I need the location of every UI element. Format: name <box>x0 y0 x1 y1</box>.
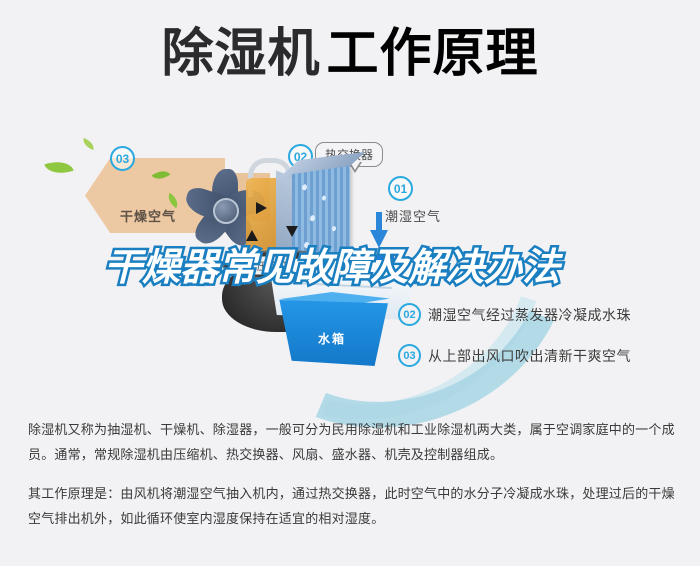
water-droplet-icon <box>310 215 315 222</box>
infographic-page: 除湿机工作原理 干燥空气 03 02 01 热交换器 潮湿空气 <box>0 0 700 566</box>
humid-air-label: 潮湿空气 <box>385 206 441 225</box>
legend-badge: 02 <box>398 303 421 326</box>
water-droplet-icon <box>322 195 326 201</box>
paragraph-1: 除湿机又称为抽湿机、干燥机、除湿器，一般可分为民用除湿机和工业除湿机两大类，属于… <box>28 417 676 467</box>
leaf-icon <box>44 156 73 178</box>
dry-air-label: 干燥空气 <box>120 206 176 225</box>
page-title-part-2: 工作原理 <box>327 25 539 83</box>
legend-badge: 03 <box>398 344 421 367</box>
legend-text: 从上部出风口吹出清新干爽空气 <box>428 346 631 366</box>
fan-hub <box>213 198 239 224</box>
flow-arrow-right-icon <box>256 202 267 214</box>
flow-arrow-up-icon <box>246 230 258 241</box>
page-title-part-1: 除湿机 <box>161 25 320 83</box>
paragraph-2: 其工作原理是：由风机将潮湿空气抽入机内，通过热交换器，此时空气中的水分子冷凝成水… <box>28 481 676 531</box>
water-droplet-icon <box>332 226 336 232</box>
flow-arrow-down-icon <box>286 226 298 237</box>
water-tank-label: 水箱 <box>318 330 346 347</box>
legend-list: 02 潮湿空气经过蒸发器冷凝成水珠 03 从上部出风口吹出清新干爽空气 <box>398 303 631 385</box>
diagram-badge-03: 03 <box>110 146 135 171</box>
legend-item: 02 潮湿空气经过蒸发器冷凝成水珠 <box>398 303 631 326</box>
body-copy: 除湿机又称为抽湿机、干燥机、除湿器，一般可分为民用除湿机和工业除湿机两大类，属于… <box>28 417 676 531</box>
diagram-badge-01: 01 <box>388 176 413 201</box>
air-down-arrow-icon <box>370 230 388 248</box>
leaf-icon <box>81 138 96 150</box>
page-title: 除湿机工作原理 <box>0 28 700 80</box>
air-down-arrow-tail <box>376 212 382 232</box>
overlay-headline: 干燥器常见故障及解决办法 <box>104 248 624 288</box>
legend-item: 03 从上部出风口吹出清新干爽空气 <box>398 344 631 367</box>
legend-text: 潮湿空气经过蒸发器冷凝成水珠 <box>428 305 631 325</box>
water-droplet-icon <box>302 184 307 191</box>
